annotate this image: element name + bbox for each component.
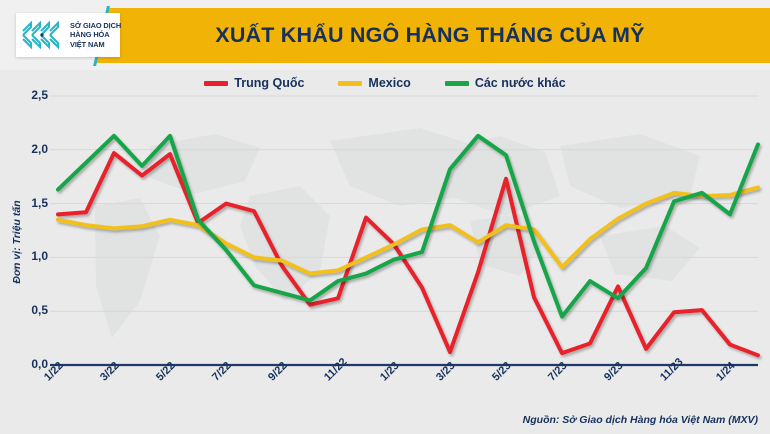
brand-logo: SỞ GIAO DỊCH HÀNG HÓA VIỆT NAM: [16, 13, 120, 57]
legend-item-2[interactable]: Các nước khác: [445, 76, 566, 90]
legend-swatch-icon: [338, 81, 362, 86]
legend-label: Mexico: [368, 76, 410, 90]
y-tick-label: 1,5: [14, 196, 48, 210]
logo-line-1: SỞ GIAO DỊCH: [70, 21, 121, 30]
legend-item-1[interactable]: Mexico: [338, 76, 410, 90]
y-tick-label: 2,5: [14, 88, 48, 102]
logo-line-2: HÀNG HÓA: [70, 30, 121, 39]
legend-item-0[interactable]: Trung Quốc: [204, 76, 304, 90]
legend-label: Trung Quốc: [234, 76, 304, 90]
legend-label: Các nước khác: [475, 76, 566, 90]
logo-line-3: VIỆT NAM: [70, 40, 121, 49]
page-title: XUẤT KHẨU NGÔ HÀNG THÁNG CỦA MỸ: [130, 8, 730, 63]
chart-plot-area: Đơn vị: Triệu tấn 2,52,01,51,00,50,0 1/2…: [0, 86, 770, 386]
legend-swatch-icon: [445, 81, 469, 86]
legend-swatch-icon: [204, 81, 228, 86]
chart-legend: Trung QuốcMexicoCác nước khác: [0, 76, 770, 90]
y-tick-label: 2,0: [14, 142, 48, 156]
y-tick-label: 1,0: [14, 249, 48, 263]
brand-logo-text: SỞ GIAO DỊCH HÀNG HÓA VIỆT NAM: [70, 21, 121, 49]
logo-center-dot: [40, 33, 43, 36]
line-chart-svg: [0, 86, 770, 386]
mxv-chevron-logo-icon: [20, 18, 66, 52]
source-caption: Nguồn: Sở Giao dịch Hàng hóa Việt Nam (M…: [523, 414, 758, 426]
y-tick-label: 0,0: [14, 357, 48, 371]
y-tick-label: 0,5: [14, 303, 48, 317]
